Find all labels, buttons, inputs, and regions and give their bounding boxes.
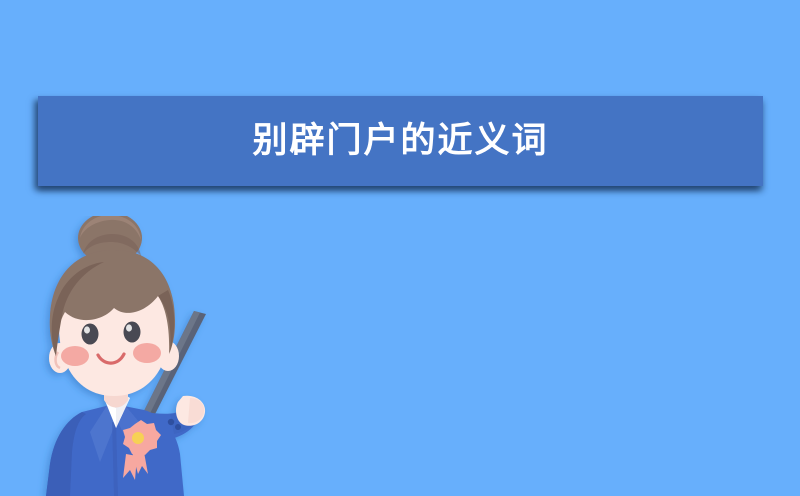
title-banner: 别辟门户的近义词 (38, 96, 763, 186)
left-cheek (61, 346, 89, 366)
hand (176, 396, 205, 426)
teacher-illustration (20, 216, 260, 496)
left-eye (82, 324, 99, 345)
teacher-figure (46, 216, 206, 496)
cuff-button-1 (168, 419, 174, 425)
page-root: 别辟门户的近义词 (0, 0, 800, 496)
cuff-button-3 (175, 424, 181, 430)
right-eye (124, 322, 141, 343)
page-title: 别辟门户的近义词 (252, 124, 548, 159)
right-cheek (133, 343, 161, 363)
